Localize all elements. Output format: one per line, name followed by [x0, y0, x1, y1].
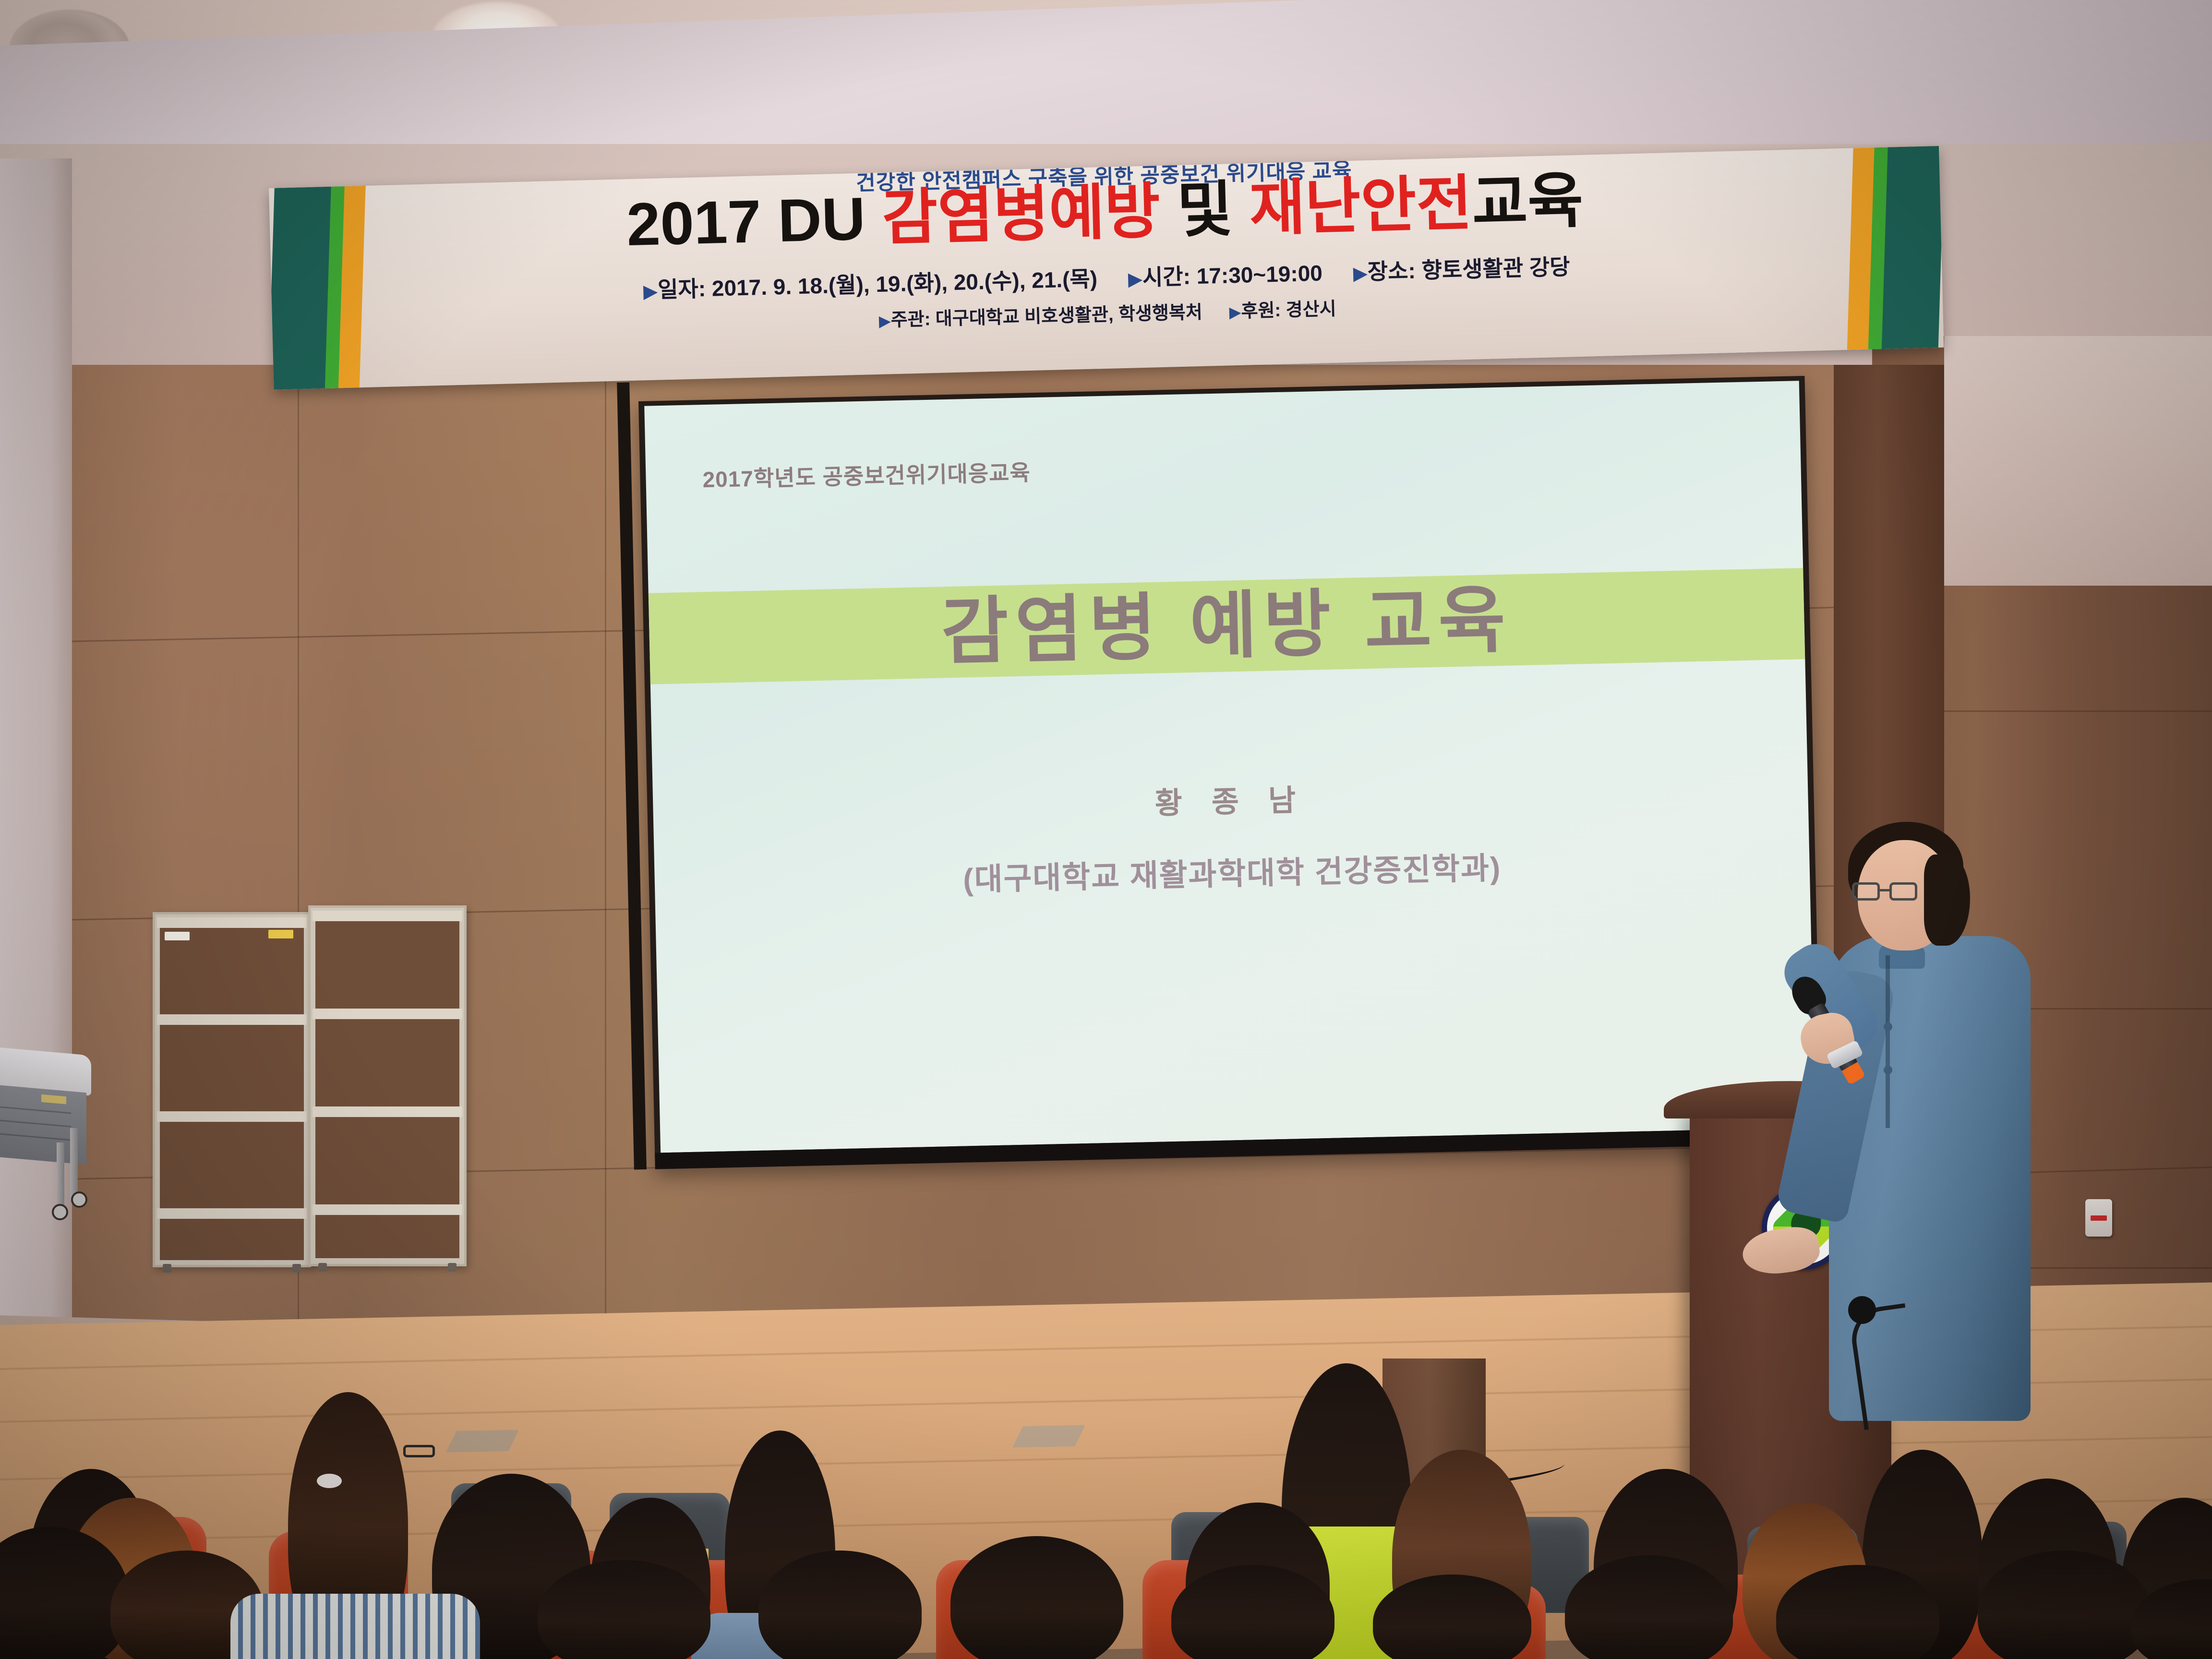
banner-time: ▶시간: 17:30~19:00 — [1128, 256, 1323, 292]
shelf-label-white — [165, 932, 190, 940]
hair-tie-icon — [317, 1474, 342, 1488]
banner-stripe-teal-left — [269, 187, 332, 390]
slide-presenter-affiliation: (대구대학교 재활과학대학 건강증진학과) — [654, 837, 1810, 906]
slide-eyebrow: 2017학년도 공중보건위기대응교육 — [702, 455, 1031, 494]
caster-wheel-icon — [71, 1191, 87, 1208]
audience-shoulders — [230, 1594, 480, 1659]
switch-indicator-icon — [2091, 1215, 2107, 1221]
screen-frame: 2017학년도 공중보건위기대응교육 감염병 예방 교육 황 종 남 (대구대학… — [638, 376, 1821, 1169]
shirt-button-icon — [1884, 1022, 1892, 1031]
caster-wheel-icon — [52, 1204, 68, 1220]
banner-sponsor: ▶후원: 경산시 — [1229, 294, 1336, 323]
banner-title: 2017 DU 감염병예방 및 재난안전교육 — [626, 170, 1584, 255]
speaker-presenter — [1771, 797, 2088, 1546]
banner-time-label: 시간: — [1142, 264, 1190, 290]
floor-vent-icon — [1012, 1425, 1085, 1448]
shelving-unit-right — [308, 905, 467, 1266]
shelving-unit-left — [153, 912, 311, 1267]
banner-host-value: 대구대학교 비호생활관, 학생행복처 — [935, 302, 1202, 329]
banner-title-red2: 재난안전 — [1249, 169, 1473, 243]
banner-place: ▶장소: 향토생활관 강당 — [1353, 249, 1570, 286]
wall-seam — [605, 365, 606, 1325]
examination-bed — [0, 1051, 106, 1210]
banner-date-label: 일자: — [658, 276, 706, 302]
banner-sponsor-value: 경산시 — [1286, 299, 1336, 321]
banner-sponsor-label: 후원: — [1241, 301, 1281, 322]
speaker-shirt-placket — [1886, 955, 1890, 1128]
slide-presenter-name: 황 종 남 — [653, 765, 1808, 833]
triangle-marker-icon: ▶ — [643, 281, 658, 302]
triangle-marker-icon: ▶ — [1229, 303, 1241, 321]
banner-place-label: 장소: — [1367, 258, 1416, 285]
speaker-hair-side — [1924, 854, 1970, 946]
shirt-button-icon — [1884, 1066, 1892, 1074]
triangle-marker-icon: ▶ — [878, 312, 891, 330]
slide-title: 감염병 예방 교육 — [649, 571, 1805, 681]
shelf-label-yellow — [268, 930, 293, 938]
triangle-marker-icon: ▶ — [1128, 269, 1143, 290]
banner-date: ▶일자: 2017. 9. 18.(월), 19.(화), 20.(수), 21… — [643, 261, 1098, 304]
lecture-hall-photo: 건강한 안전캠퍼스 구축을 위한 공중보건 위기대응 교육 2017 DU 감염… — [0, 0, 2212, 1659]
banner-title-part1: 2017 DU — [626, 184, 883, 258]
banner-date-value: 2017. 9. 18.(월), 19.(화), 20.(수), 21.(목) — [711, 266, 1097, 301]
gooseneck-mic-capsule — [1848, 1296, 1876, 1324]
floor-vent-icon — [446, 1430, 518, 1453]
banner-place-value: 향토생활관 강당 — [1421, 254, 1570, 283]
triangle-marker-icon: ▶ — [1353, 263, 1368, 284]
audience-glasses-icon — [403, 1445, 435, 1457]
slide-surface: 2017학년도 공중보건위기대응교육 감염병 예방 교육 황 종 남 (대구대학… — [644, 381, 1815, 1153]
speaker-glasses-icon — [1852, 882, 1924, 902]
banner-title-part3: 교육 — [1471, 167, 1584, 237]
banner-title-red1: 감염병예방 — [881, 177, 1161, 252]
event-banner: 건강한 안전캠퍼스 구축을 위한 공중보건 위기대응 교육 2017 DU 감염… — [269, 146, 1944, 390]
banner-title-part2: 및 — [1159, 175, 1250, 245]
right-wall-panel — [1944, 336, 2212, 586]
banner-stripe-teal-right — [1881, 146, 1944, 349]
banner-host-label: 주관: — [890, 309, 931, 330]
wall-light-switch[interactable] — [2085, 1199, 2112, 1237]
projection-screen: 2017학년도 공중보건위기대응교육 감염병 예방 교육 황 종 남 (대구대학… — [638, 376, 1821, 1169]
banner-details-row: ▶일자: 2017. 9. 18.(월), 19.(화), 20.(수), 21… — [643, 249, 1570, 304]
banner-credits-row: ▶주관: 대구대학교 비호생활관, 학생행복처 ▶후원: 경산시 — [878, 294, 1336, 332]
banner-time-value: 17:30~19:00 — [1196, 261, 1322, 289]
banner-host: ▶주관: 대구대학교 비호생활관, 학생행복처 — [878, 297, 1202, 332]
